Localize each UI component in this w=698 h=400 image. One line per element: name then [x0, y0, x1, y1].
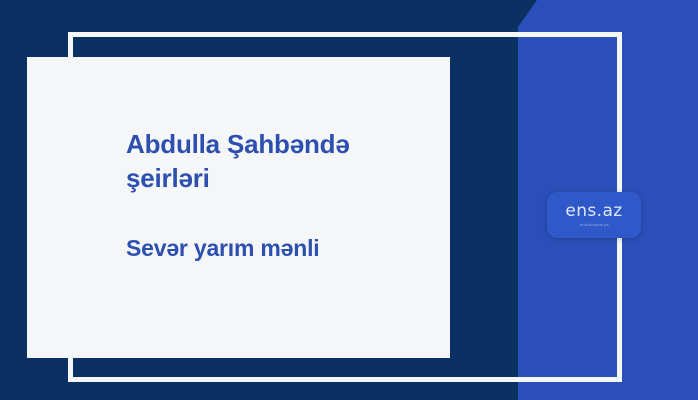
text-block: Abdulla Şahbəndə şeirləri Sevər yarım mə… — [126, 128, 426, 263]
page-subtitle: Sevər yarım mənli — [126, 234, 426, 264]
logo-wordmark: ens.az — [565, 203, 622, 220]
logo-tagline: ensiklopediya — [579, 223, 608, 227]
poster-canvas: Abdulla Şahbəndə şeirləri Sevər yarım mə… — [0, 0, 698, 400]
ensaz-logo-badge[interactable]: ens.az ensiklopediya — [547, 192, 641, 238]
page-title: Abdulla Şahbəndə şeirləri — [126, 128, 426, 196]
